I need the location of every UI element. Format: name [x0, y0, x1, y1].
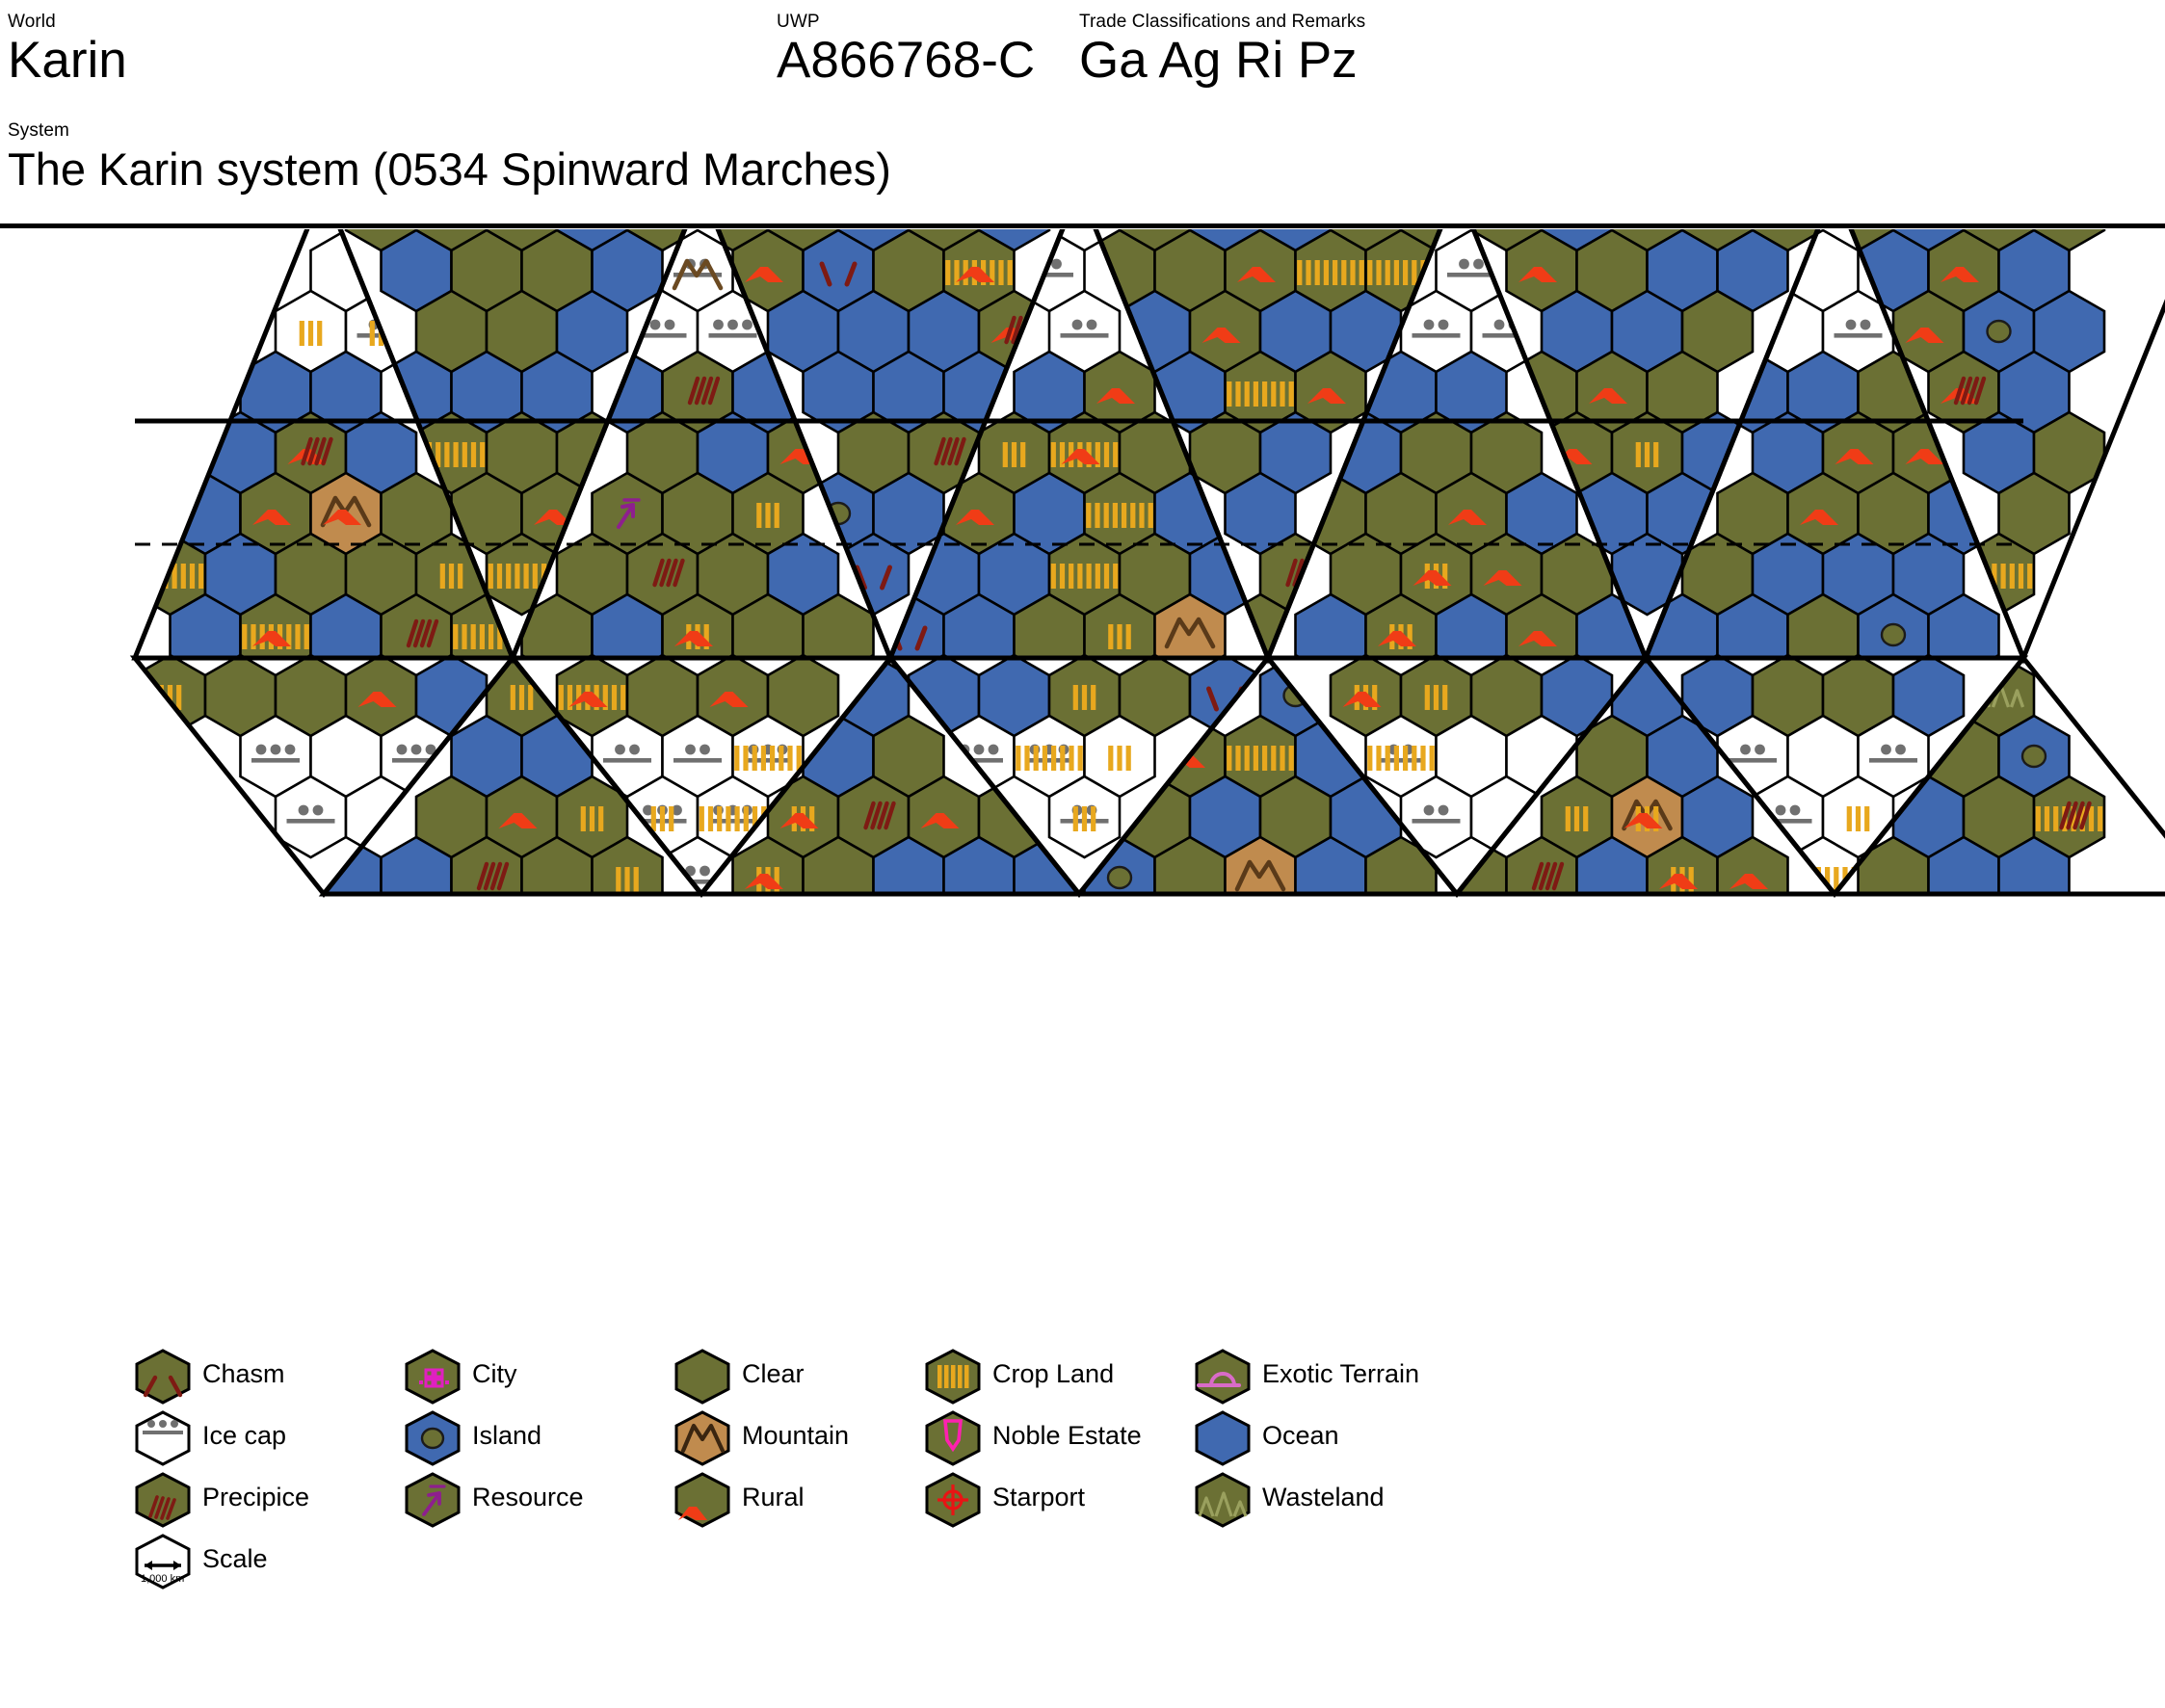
hex-features	[1003, 442, 1026, 467]
crop-land-icon	[1227, 746, 1231, 771]
crop-land-icon	[1096, 564, 1100, 589]
ice-cap-icon	[1072, 320, 1083, 330]
crop-land-icon	[1367, 746, 1372, 771]
crop-land-icon	[137, 564, 142, 589]
hex-features	[1988, 321, 2011, 342]
legend-label: Precipice	[202, 1482, 309, 1512]
ice-cap-icon	[287, 819, 335, 824]
ice-cap-icon	[397, 745, 408, 755]
crop-land-icon	[1653, 442, 1658, 467]
ice-cap-icon	[955, 758, 1003, 763]
ice-cap-icon	[1061, 333, 1109, 338]
crop-land-icon	[1126, 624, 1131, 649]
ice-cap-icon	[1087, 320, 1097, 330]
crop-land-icon	[1974, 564, 1979, 589]
crop-land-icon	[1082, 806, 1087, 831]
crop-land-icon	[471, 442, 476, 467]
crop-land-icon	[515, 564, 519, 589]
ice-cap-icon	[1447, 273, 1495, 277]
crop-land-icon	[770, 746, 775, 771]
crop-land-icon	[462, 442, 467, 467]
hex-features	[2022, 746, 2046, 767]
crop-land-icon	[2027, 564, 2032, 589]
ice-cap-icon	[1835, 333, 1883, 338]
crop-land-icon	[1297, 260, 1302, 285]
ice-cap-icon	[1764, 819, 1812, 824]
crop-land-icon	[1367, 260, 1372, 285]
crop-land-icon	[669, 806, 673, 831]
crop-land-icon	[1051, 746, 1056, 771]
hex-features	[1108, 867, 1131, 888]
trade-label: Trade Classifications and Remarks	[1079, 12, 1365, 32]
legend-label: Chasm	[202, 1358, 285, 1389]
crop-land-icon	[1442, 685, 1447, 710]
trade-field: Trade Classifications and Remarks Ga Ag …	[1079, 12, 1365, 90]
legend-label: Starport	[992, 1482, 1085, 1512]
crop-land-icon	[190, 564, 195, 589]
crop-land-icon	[242, 624, 247, 649]
uwp-label: UWP	[777, 12, 1035, 32]
map-canvas[interactable]	[0, 229, 2165, 1337]
ice-cap-icon	[673, 758, 722, 763]
crop-land-icon	[998, 260, 1003, 285]
crop-land-icon	[1043, 746, 1047, 771]
ice-cap-icon	[1025, 758, 1073, 763]
legend-label: Scale	[202, 1543, 268, 1574]
crop-land-icon	[1289, 746, 1294, 771]
crop-land-icon	[1245, 381, 1250, 407]
ice-cap-icon	[1483, 333, 1531, 338]
crop-land-icon	[154, 564, 159, 589]
ice-cap-icon	[299, 805, 309, 816]
hex-features	[709, 320, 757, 338]
hex-chasm-icon	[135, 1349, 191, 1405]
crop-land-icon	[1016, 746, 1020, 771]
ice-cap-icon	[1473, 259, 1484, 270]
svg-text:1,000 km: 1,000 km	[141, 1573, 184, 1585]
ice-cap-icon	[742, 320, 752, 330]
crop-land-icon	[1104, 503, 1109, 528]
crop-land-icon	[1430, 260, 1435, 285]
uwp-field: UWP A866768-C	[777, 12, 1035, 90]
ice-cap-icon	[1869, 758, 1917, 763]
crop-land-icon	[1069, 746, 1073, 771]
crop-land-icon	[744, 806, 749, 831]
ice-cap-icon	[383, 320, 394, 330]
crop-land-icon	[590, 806, 594, 831]
island-icon	[1882, 624, 1905, 645]
crop-land-icon	[1271, 381, 1276, 407]
crop-land-icon	[761, 746, 766, 771]
crop-land-icon	[1271, 746, 1276, 771]
crop-land-icon	[511, 685, 515, 710]
hex-features	[1882, 624, 1905, 645]
ice-cap-icon	[271, 745, 281, 755]
hex-features	[756, 503, 779, 528]
crop-land-icon	[1864, 806, 1869, 831]
crop-land-icon	[1636, 442, 1641, 467]
ice-cap-icon	[989, 745, 999, 755]
hex-city-icon	[405, 1349, 461, 1405]
hex-exotic-icon	[1195, 1349, 1251, 1405]
crop-land-icon	[440, 564, 445, 589]
crop-land-icon	[1095, 503, 1099, 528]
hex-island-icon	[405, 1410, 461, 1466]
crop-land-icon	[480, 624, 485, 649]
crop-land-icon	[634, 867, 639, 892]
crop-land-icon	[1403, 746, 1408, 771]
crop-land-icon	[1073, 806, 1078, 831]
crop-land-icon	[462, 624, 466, 649]
legend-label: Rural	[742, 1482, 805, 1512]
crop-land-icon	[1289, 381, 1294, 407]
system-field: System The Karin system (0534 Spinward M…	[8, 120, 891, 198]
legend-item-exotic-terrain[interactable]: Exotic Terrain	[1195, 1347, 1580, 1408]
crop-land-icon	[1117, 746, 1122, 771]
crop-land-icon	[418, 442, 423, 467]
crop-land-icon	[1008, 260, 1013, 285]
legend-label: Noble Estate	[992, 1420, 1142, 1451]
crop-land-icon	[1394, 746, 1399, 771]
hex-terrain-layer	[135, 229, 2104, 918]
ice-cap-icon	[639, 333, 687, 338]
ice-cap-icon	[709, 819, 757, 824]
crop-land-icon	[488, 624, 493, 649]
crop-land-icon	[458, 564, 462, 589]
crop-land-icon	[1645, 442, 1650, 467]
ice-cap-icon	[1755, 745, 1765, 755]
crop-land-icon	[651, 806, 656, 831]
crop-land-icon	[1139, 503, 1144, 528]
crop-land-icon	[2089, 806, 2094, 831]
crop-land-icon	[370, 321, 375, 346]
ice-cap-icon	[1439, 805, 1449, 816]
crop-land-icon	[449, 564, 454, 589]
crop-land-icon	[616, 867, 620, 892]
crop-land-icon	[1403, 260, 1408, 285]
trade-value: Ga Ag Ri Pz	[1079, 32, 1365, 90]
legend-label: Mountain	[742, 1420, 849, 1451]
legend-item-ocean[interactable]: Ocean	[1195, 1408, 1580, 1470]
crop-land-icon	[1126, 746, 1131, 771]
ice-cap-icon	[1025, 273, 1073, 277]
crop-land-icon	[1262, 746, 1267, 771]
crop-land-icon	[1034, 746, 1039, 771]
crop-land-icon	[1069, 564, 1073, 589]
crop-land-icon	[480, 442, 485, 467]
crop-land-icon	[1360, 260, 1364, 285]
crop-land-icon	[1012, 442, 1016, 467]
crop-land-icon	[1412, 260, 1416, 285]
crop-land-icon	[708, 806, 713, 831]
crop-land-icon	[779, 746, 783, 771]
crop-land-icon	[559, 685, 564, 710]
hex-features	[1566, 806, 1589, 831]
ice-cap-icon	[709, 333, 757, 338]
ice-cap-icon	[1776, 805, 1786, 816]
hex-features	[1847, 806, 1870, 831]
crop-land-icon	[717, 806, 722, 831]
hex-resource-icon	[405, 1472, 461, 1528]
crop-land-icon	[1430, 746, 1435, 771]
ice-cap-icon	[1729, 758, 1777, 763]
crop-land-icon	[176, 685, 181, 710]
ice-cap-icon	[1861, 320, 1871, 330]
ice-cap-icon	[685, 745, 696, 755]
ice-cap-icon	[1740, 745, 1751, 755]
crop-land-icon	[1412, 746, 1416, 771]
crop-land-icon	[304, 624, 309, 649]
crop-land-icon	[444, 442, 449, 467]
ice-cap-icon	[650, 320, 661, 330]
crop-land-icon	[453, 624, 458, 649]
ice-cap-icon	[1846, 320, 1857, 330]
crop-land-icon	[775, 503, 779, 528]
crop-land-icon	[1082, 685, 1087, 710]
hex-features	[1425, 685, 1448, 710]
ice-cap-icon	[615, 745, 625, 755]
crop-land-icon	[1245, 746, 1250, 771]
crop-land-icon	[528, 685, 533, 710]
crop-land-icon	[488, 564, 493, 589]
hex-ocean-icon	[1195, 1410, 1251, 1466]
crop-land-icon	[620, 685, 625, 710]
crop-land-icon	[1254, 746, 1258, 771]
crop-land-icon	[2001, 564, 2006, 589]
uwp-value: A866768-C	[777, 32, 1035, 90]
system-label: System	[8, 120, 891, 141]
ice-cap-icon	[1439, 320, 1449, 330]
crop-land-icon	[581, 806, 586, 831]
crop-land-icon	[1104, 442, 1109, 467]
crop-land-icon	[181, 564, 186, 589]
crop-land-icon	[533, 564, 538, 589]
crop-land-icon	[1149, 503, 1153, 528]
ice-cap-icon	[411, 745, 422, 755]
crop-land-icon	[752, 746, 757, 771]
hex-starport-icon	[925, 1472, 981, 1528]
crop-land-icon	[317, 321, 322, 346]
crop-land-icon	[198, 564, 203, 589]
crop-land-icon	[1086, 503, 1091, 528]
ice-cap-icon	[285, 745, 296, 755]
crop-land-icon	[1376, 746, 1381, 771]
ice-cap-icon	[629, 745, 640, 755]
crop-land-icon	[726, 806, 730, 831]
legend-label: Ocean	[1262, 1420, 1339, 1451]
hex-icecap-icon	[135, 1410, 191, 1466]
crop-land-icon	[1789, 867, 1794, 892]
crop-land-icon	[1003, 442, 1008, 467]
crop-land-icon	[1420, 746, 1425, 771]
crop-land-icon	[1798, 867, 1803, 892]
legend-label: Crop Land	[992, 1358, 1114, 1389]
hex-scale-icon: 1,000 km	[135, 1534, 191, 1590]
hex-wasteland-icon	[1195, 1472, 1251, 1528]
crop-land-icon	[1051, 442, 1056, 467]
ice-cap-icon	[744, 758, 792, 763]
crop-land-icon	[1108, 624, 1113, 649]
crop-land-icon	[1315, 260, 1320, 285]
hex-features	[1636, 442, 1659, 467]
legend-label: Ice cap	[202, 1420, 286, 1451]
ice-cap-icon	[665, 320, 675, 330]
crop-land-icon	[787, 746, 792, 771]
crop-land-icon	[1966, 564, 1970, 589]
ice-cap-icon	[251, 758, 300, 763]
crop-land-icon	[743, 746, 748, 771]
legend-item-wasteland[interactable]: Wasteland	[1195, 1470, 1580, 1532]
crop-land-icon	[1122, 503, 1126, 528]
map-legend: Chasm Ice cap Precipice 1,000 km Scale	[0, 1347, 2165, 1636]
crop-land-icon	[1280, 381, 1284, 407]
crop-land-icon	[1262, 381, 1267, 407]
crop-land-icon	[756, 503, 761, 528]
ice-cap-icon	[1424, 805, 1435, 816]
crop-land-icon	[497, 564, 502, 589]
ice-cap-icon	[727, 320, 738, 330]
crop-land-icon	[300, 321, 304, 346]
ice-cap-icon	[1895, 745, 1906, 755]
crop-land-icon	[1104, 564, 1109, 589]
hex-features	[300, 321, 323, 346]
ice-cap-icon	[1051, 259, 1062, 270]
world-map-page: World Karin UWP A866768-C Trade Classifi…	[0, 0, 2165, 1708]
legend-item-scale[interactable]: 1,000 km Scale	[135, 1532, 520, 1593]
hex-features	[251, 745, 300, 763]
crop-land-icon	[1386, 746, 1390, 771]
ice-cap-icon	[1790, 805, 1801, 816]
island-icon	[1108, 867, 1131, 888]
crop-land-icon	[1073, 685, 1078, 710]
crop-land-icon	[1051, 564, 1056, 589]
world-field: World Karin	[8, 12, 127, 90]
crop-land-icon	[612, 685, 617, 710]
crop-land-icon	[1566, 806, 1571, 831]
ice-cap-icon	[313, 805, 324, 816]
ice-cap-icon	[1377, 758, 1425, 763]
hex-features	[440, 564, 463, 589]
crop-land-icon	[1108, 746, 1113, 771]
crop-land-icon	[2045, 806, 2049, 831]
ice-cap-icon	[1424, 320, 1435, 330]
crop-land-icon	[1227, 381, 1231, 407]
crop-land-icon	[2053, 806, 2058, 831]
hex-features	[1108, 746, 1131, 771]
hex-features	[1073, 685, 1096, 710]
hex-noble-icon	[925, 1410, 981, 1466]
world-hex-map[interactable]	[0, 229, 2165, 1337]
precipice-icon	[1308, 561, 1316, 585]
crop-land-icon	[1376, 260, 1381, 285]
crop-land-icon	[1091, 806, 1096, 831]
crop-land-icon	[1254, 381, 1258, 407]
ice-cap-icon	[700, 866, 710, 877]
island-icon	[1988, 321, 2011, 342]
crop-land-icon	[308, 321, 313, 346]
hex-rural-icon	[674, 1472, 730, 1528]
ice-cap-icon	[700, 745, 710, 755]
hex-clear-icon	[674, 1349, 730, 1405]
hex-features	[511, 685, 534, 710]
crop-land-icon	[471, 624, 476, 649]
crop-land-icon	[1394, 260, 1399, 285]
hex-features	[1108, 624, 1131, 649]
crop-land-icon	[2098, 806, 2102, 831]
crop-land-icon	[1235, 746, 1240, 771]
crop-land-icon	[700, 806, 704, 831]
legend-column: Exotic Terrain Ocean Wasteland	[1195, 1347, 1580, 1532]
crop-land-icon	[1020, 442, 1025, 467]
hex-features	[581, 806, 604, 831]
world-label: World	[8, 12, 127, 32]
ice-cap-icon	[1413, 819, 1461, 824]
crop-land-icon	[1113, 503, 1118, 528]
ice-cap-icon	[1494, 320, 1505, 330]
crop-land-icon	[660, 806, 665, 831]
crop-land-icon	[2010, 564, 2015, 589]
hex-mountain-icon	[674, 1410, 730, 1466]
ice-cap-icon	[713, 320, 724, 330]
crop-land-icon	[1350, 260, 1355, 285]
crop-land-icon	[145, 564, 150, 589]
legend-label: City	[472, 1358, 517, 1389]
legend-label: Island	[472, 1420, 541, 1451]
crop-land-icon	[1235, 381, 1240, 407]
crop-land-icon	[2019, 564, 2023, 589]
crop-land-icon	[1434, 685, 1439, 710]
crop-land-icon	[1583, 806, 1588, 831]
crop-land-icon	[624, 867, 629, 892]
crop-land-icon	[1333, 260, 1337, 285]
crop-land-icon	[1280, 746, 1284, 771]
page-header: World Karin UWP A866768-C Trade Classifi…	[0, 0, 2165, 229]
legend-label: Exotic Terrain	[1262, 1358, 1419, 1389]
crop-land-icon	[1847, 806, 1852, 831]
crop-land-icon	[765, 503, 770, 528]
crop-land-icon	[1091, 685, 1096, 710]
ice-cap-icon	[1459, 259, 1469, 270]
ice-cap-icon	[1413, 333, 1461, 338]
ice-cap-icon	[603, 758, 651, 763]
hex-crop-icon	[925, 1349, 981, 1405]
crop-land-icon	[1078, 746, 1083, 771]
legend-label: Resource	[472, 1482, 584, 1512]
crop-land-icon	[734, 746, 739, 771]
crop-land-icon	[2036, 806, 2041, 831]
crop-land-icon	[1117, 624, 1122, 649]
crop-land-icon	[295, 624, 300, 649]
crop-land-icon	[454, 442, 459, 467]
crop-land-icon	[1425, 685, 1430, 710]
world-name: Karin	[8, 32, 127, 90]
crop-land-icon	[1130, 503, 1135, 528]
crop-land-icon	[1324, 260, 1329, 285]
crop-land-icon	[1024, 746, 1029, 771]
ice-cap-icon	[974, 745, 985, 755]
hex-features	[616, 867, 639, 892]
crop-land-icon	[1341, 260, 1346, 285]
crop-land-icon	[735, 806, 740, 831]
legend-label: Clear	[742, 1358, 805, 1389]
crop-land-icon	[1060, 746, 1065, 771]
ice-cap-icon	[1881, 745, 1891, 755]
crop-land-icon	[1574, 806, 1579, 831]
header-divider	[0, 223, 2165, 228]
hex-precipice-icon	[135, 1472, 191, 1528]
crop-land-icon	[1060, 564, 1065, 589]
crop-land-icon	[1856, 806, 1861, 831]
